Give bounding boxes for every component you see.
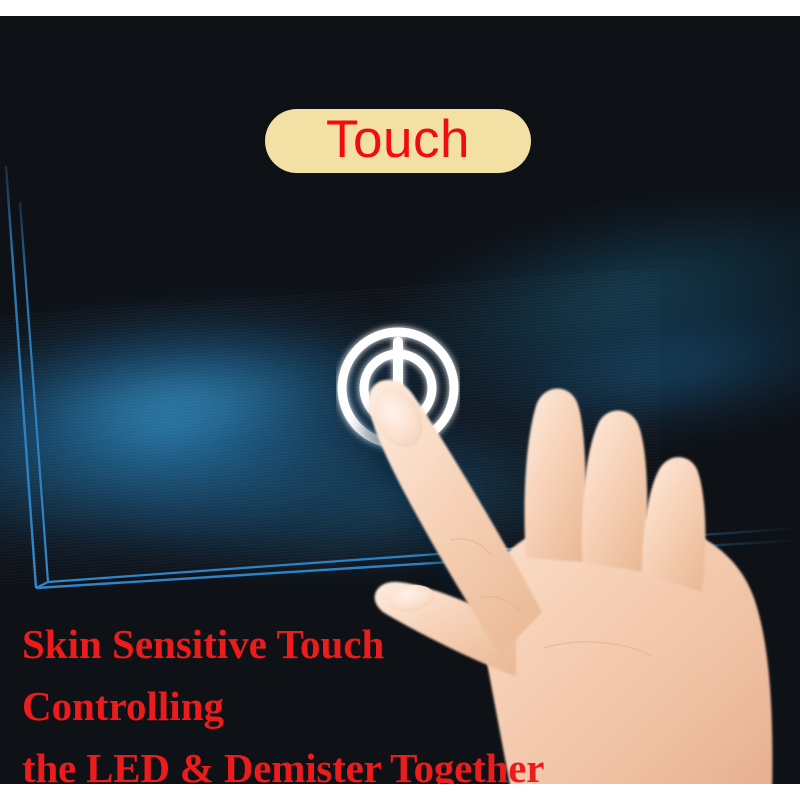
touch-badge-label: Touch [326,113,470,166]
photo-area: Touch Skin Sensitive Touch Controlling t… [0,16,800,784]
touch-badge[interactable]: Touch [265,109,531,173]
hand-pointing-index-finger [330,326,800,784]
caption-line-1: Skin Sensitive Touch [22,620,384,668]
product-banner: Touch Skin Sensitive Touch Controlling t… [0,0,800,800]
caption-line-3: the LED & Demister Together [22,744,544,784]
caption-line-2: Controlling [22,682,224,730]
